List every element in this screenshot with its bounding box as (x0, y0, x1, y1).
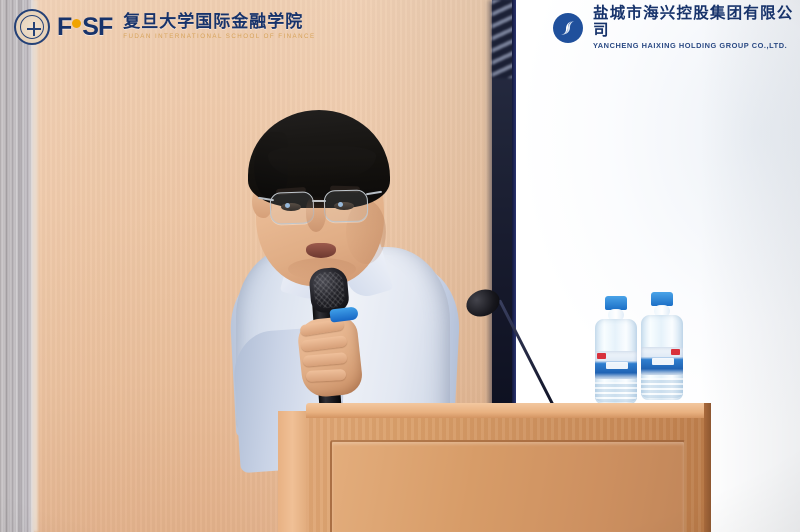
bottle-base-ribs (595, 382, 637, 402)
bottle-label-white-text-block (606, 362, 628, 369)
bottle-base-ribs (641, 378, 683, 398)
water-bottle (640, 292, 684, 400)
bottle-label-white-text-block (652, 358, 674, 365)
mouth (306, 243, 336, 258)
photo-scene: FSF 复旦大学国际金融学院 FUDAN INTERNATIONAL SCHOO… (0, 0, 800, 532)
podium-right-edge (704, 403, 711, 532)
podium-recessed-panel (330, 440, 686, 532)
water-bottle (594, 296, 638, 404)
handheld-microphone-head (308, 266, 350, 313)
bottle-cap (651, 292, 673, 306)
bottle-label-red-accent (671, 349, 680, 355)
bottle-cap (605, 296, 627, 310)
nose (306, 196, 326, 232)
eyeglass-lens-right (324, 190, 369, 223)
podium-top-surface (306, 403, 710, 419)
bottle-label-red-accent (597, 353, 606, 359)
finger (306, 369, 347, 382)
